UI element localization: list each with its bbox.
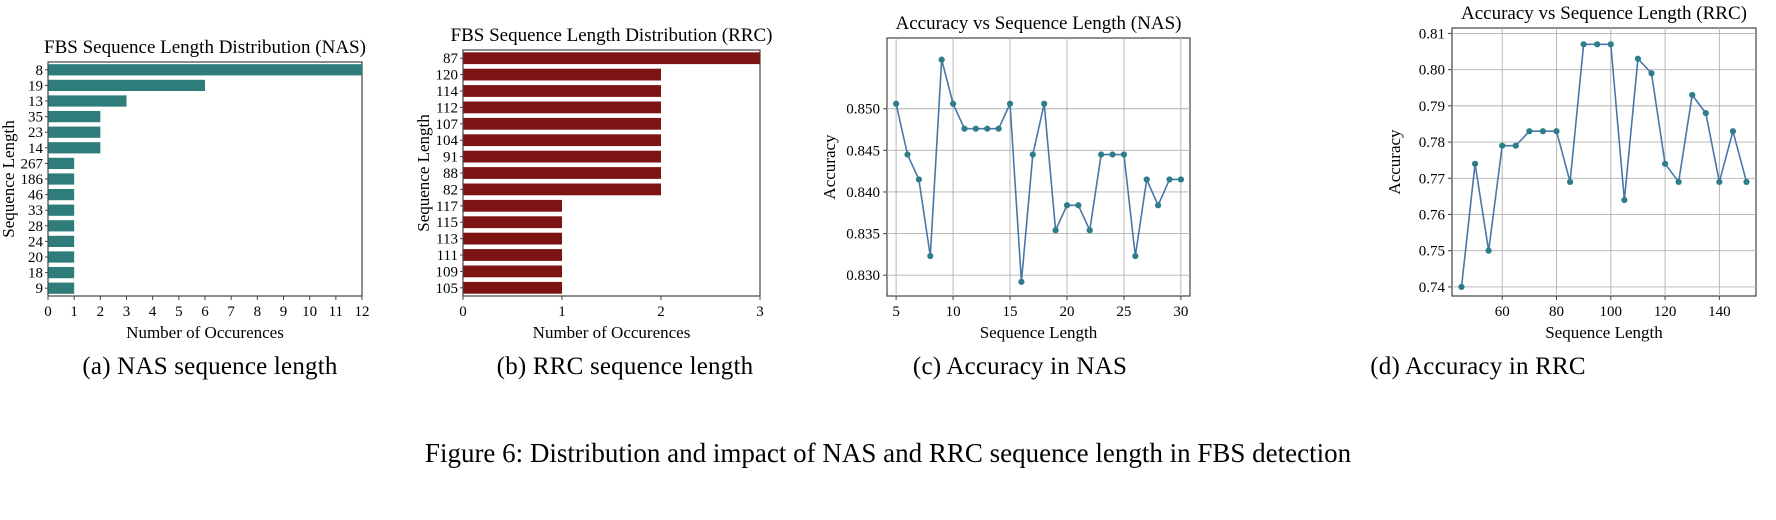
x-axis-label: Number of Occurences [533,323,691,342]
y-tick-label: 82 [443,182,458,198]
data-point [1166,176,1172,182]
y-tick-label: 46 [28,188,44,204]
y-tick-label: 0.77 [1419,171,1446,187]
chart-c-svg: 0.8300.8350.8400.8450.85051015202530Sequ… [820,0,1220,345]
data-point [1581,41,1587,47]
data-point [1144,176,1150,182]
data-point [973,126,979,132]
plot-title: FBS Sequence Length Distribution (RRC) [451,25,773,46]
subcaption-c: (c) Accuracy in NAS [820,352,1220,382]
x-tick-label: 5 [892,304,900,320]
data-point [996,126,1002,132]
x-tick-label: 100 [1600,304,1623,320]
x-tick-label: 2 [657,304,665,320]
data-point [1155,202,1161,208]
panel-nas-sequence-length: 8191335231426718646332824201890123456789… [0,0,420,400]
x-tick-label: 0 [459,304,467,320]
y-tick-label: 8 [36,63,44,79]
y-tick-label: 0.845 [846,143,880,159]
bar [49,173,75,184]
bar [49,111,101,122]
chart-b-svg: 8712011411210710491888211711511311110910… [415,0,835,345]
y-tick-label: 0.830 [846,268,880,284]
y-tick-label: 9 [36,281,44,297]
bar [49,158,75,169]
data-point [1608,41,1614,47]
y-tick-label: 117 [436,199,458,215]
y-tick-label: 24 [28,234,44,250]
x-tick-label: 5 [175,304,183,320]
y-tick-label: 115 [436,215,458,231]
data-point [984,126,990,132]
x-tick-label: 20 [1059,304,1074,320]
y-axis-label: Accuracy [820,134,839,200]
y-tick-label: 0.840 [846,185,880,201]
data-point [1098,151,1104,157]
data-point [1064,202,1070,208]
y-tick-label: 0.76 [1419,208,1446,224]
chart-a-svg: 8191335231426718646332824201890123456789… [0,0,420,345]
data-point [1743,179,1749,185]
data-point [1041,101,1047,107]
data-point [1553,128,1559,134]
subcaption-b: (b) RRC sequence length [415,352,835,382]
bar [464,216,563,228]
data-point [1458,284,1464,290]
bar [49,80,206,91]
x-tick-label: 8 [254,304,262,320]
plot-title: FBS Sequence Length Distribution (NAS) [44,37,366,58]
data-point [1648,70,1654,76]
y-tick-label: 0.80 [1419,63,1445,79]
data-point [939,57,945,63]
y-tick-label: 114 [436,84,458,100]
bar [49,220,75,231]
x-tick-label: 4 [149,304,157,320]
y-tick-label: 112 [436,100,458,116]
data-point [1087,227,1093,233]
bar [49,236,75,247]
bar [464,200,563,212]
y-tick-label: 0.74 [1419,280,1446,296]
x-tick-label: 15 [1003,304,1018,320]
x-tick-label: 1 [558,304,566,320]
panel-accuracy-rrc: 0.740.750.760.770.780.790.800.8160801001… [1180,0,1776,400]
data-point [1567,179,1573,185]
data-point [1052,227,1058,233]
y-axis-label: Sequence Length [0,120,18,238]
data-point [1540,128,1546,134]
x-axis-label: Sequence Length [1545,323,1663,342]
y-tick-label: 0.81 [1419,26,1445,42]
y-tick-label: 0.850 [846,102,880,118]
data-point [1513,143,1519,149]
data-point [1018,279,1024,285]
data-point [1689,92,1695,98]
y-tick-label: 19 [28,78,43,94]
y-tick-label: 35 [28,110,43,126]
x-tick-label: 0 [44,304,52,320]
panel-rrc-sequence-length: 8712011411210710491888211711511311110910… [415,0,835,400]
y-tick-label: 33 [28,203,43,219]
plot-title: Accuracy vs Sequence Length (RRC) [1461,3,1747,24]
bar [464,69,662,81]
y-axis-label: Sequence Length [415,114,433,232]
bar [49,95,127,106]
bar [49,189,75,200]
bar [49,267,75,278]
data-point [1075,202,1081,208]
data-point [1121,151,1127,157]
bar [49,283,75,294]
x-tick-label: 6 [201,304,209,320]
y-tick-label: 13 [28,94,43,110]
x-tick-label: 1 [70,304,78,320]
plot-frame [1452,28,1756,296]
bar [464,282,563,294]
bar [464,134,662,146]
y-tick-label: 105 [436,281,459,297]
data-point [961,126,967,132]
x-tick-label: 9 [280,304,288,320]
data-point [893,101,899,107]
y-tick-label: 107 [436,117,459,133]
data-point [1703,110,1709,116]
bar [464,52,761,64]
bar [464,265,563,277]
bar [49,64,363,75]
y-tick-label: 186 [21,172,44,188]
data-point [1526,128,1532,134]
y-tick-label: 20 [28,250,43,266]
plot-title: Accuracy vs Sequence Length (NAS) [896,13,1182,34]
x-tick-label: 80 [1549,304,1564,320]
y-axis-label: Accuracy [1385,129,1404,195]
y-tick-label: 14 [28,141,44,157]
bar [464,101,662,113]
y-tick-label: 109 [436,264,459,280]
y-tick-label: 18 [28,266,43,282]
bar [464,233,563,245]
x-tick-label: 7 [227,304,235,320]
data-point [1472,161,1478,167]
y-tick-label: 267 [21,156,44,172]
data-point [927,253,933,259]
x-tick-label: 10 [946,304,961,320]
y-tick-label: 23 [28,125,43,141]
y-tick-label: 120 [436,68,459,84]
bar [464,183,662,195]
data-point [1662,161,1668,167]
y-tick-label: 0.79 [1419,99,1445,115]
data-point [1499,143,1505,149]
bar [49,251,75,262]
x-axis-label: Sequence Length [980,323,1098,342]
y-tick-label: 91 [443,150,458,166]
data-point [1635,56,1641,62]
x-tick-label: 3 [756,304,764,320]
y-tick-label: 0.75 [1419,244,1445,260]
panel-accuracy-nas: 0.8300.8350.8400.8450.85051015202530Sequ… [820,0,1220,400]
x-tick-label: 12 [355,304,370,320]
y-tick-label: 87 [443,51,459,67]
x-tick-label: 3 [123,304,131,320]
y-tick-label: 104 [436,133,459,149]
y-tick-label: 0.78 [1419,135,1445,151]
x-axis-label: Number of Occurences [126,323,284,342]
data-point [1621,197,1627,203]
data-point [950,101,956,107]
bar [464,85,662,97]
subcaption-d: (d) Accuracy in RRC [1180,352,1776,382]
y-tick-label: 28 [28,219,43,235]
figure-caption: Figure 6: Distribution and impact of NAS… [0,438,1776,469]
x-tick-label: 10 [302,304,317,320]
bar [464,151,662,163]
data-point [1132,253,1138,259]
bar [49,205,75,216]
x-tick-label: 140 [1708,304,1731,320]
data-point [1109,151,1115,157]
bar [464,167,662,179]
bar [49,142,101,153]
x-tick-label: 2 [97,304,105,320]
data-point [1716,179,1722,185]
bar [464,118,662,130]
x-tick-label: 25 [1116,304,1131,320]
data-point [1594,41,1600,47]
data-point [1676,179,1682,185]
y-tick-label: 113 [436,232,458,248]
data-point [1730,128,1736,134]
subcaption-a: (a) NAS sequence length [0,352,420,382]
bar [49,127,101,138]
x-tick-label: 11 [329,304,343,320]
x-tick-label: 120 [1654,304,1677,320]
figure-6: 8191335231426718646332824201890123456789… [0,0,1776,520]
data-point [1007,101,1013,107]
data-point [916,176,922,182]
chart-d-svg: 0.740.750.760.770.780.790.800.8160801001… [1180,0,1776,345]
data-point [1030,151,1036,157]
x-tick-label: 60 [1495,304,1510,320]
data-point [1486,248,1492,254]
bar [464,249,563,261]
data-point [904,151,910,157]
y-tick-label: 88 [443,166,458,182]
y-tick-label: 0.835 [846,227,880,243]
y-tick-label: 111 [437,248,458,264]
